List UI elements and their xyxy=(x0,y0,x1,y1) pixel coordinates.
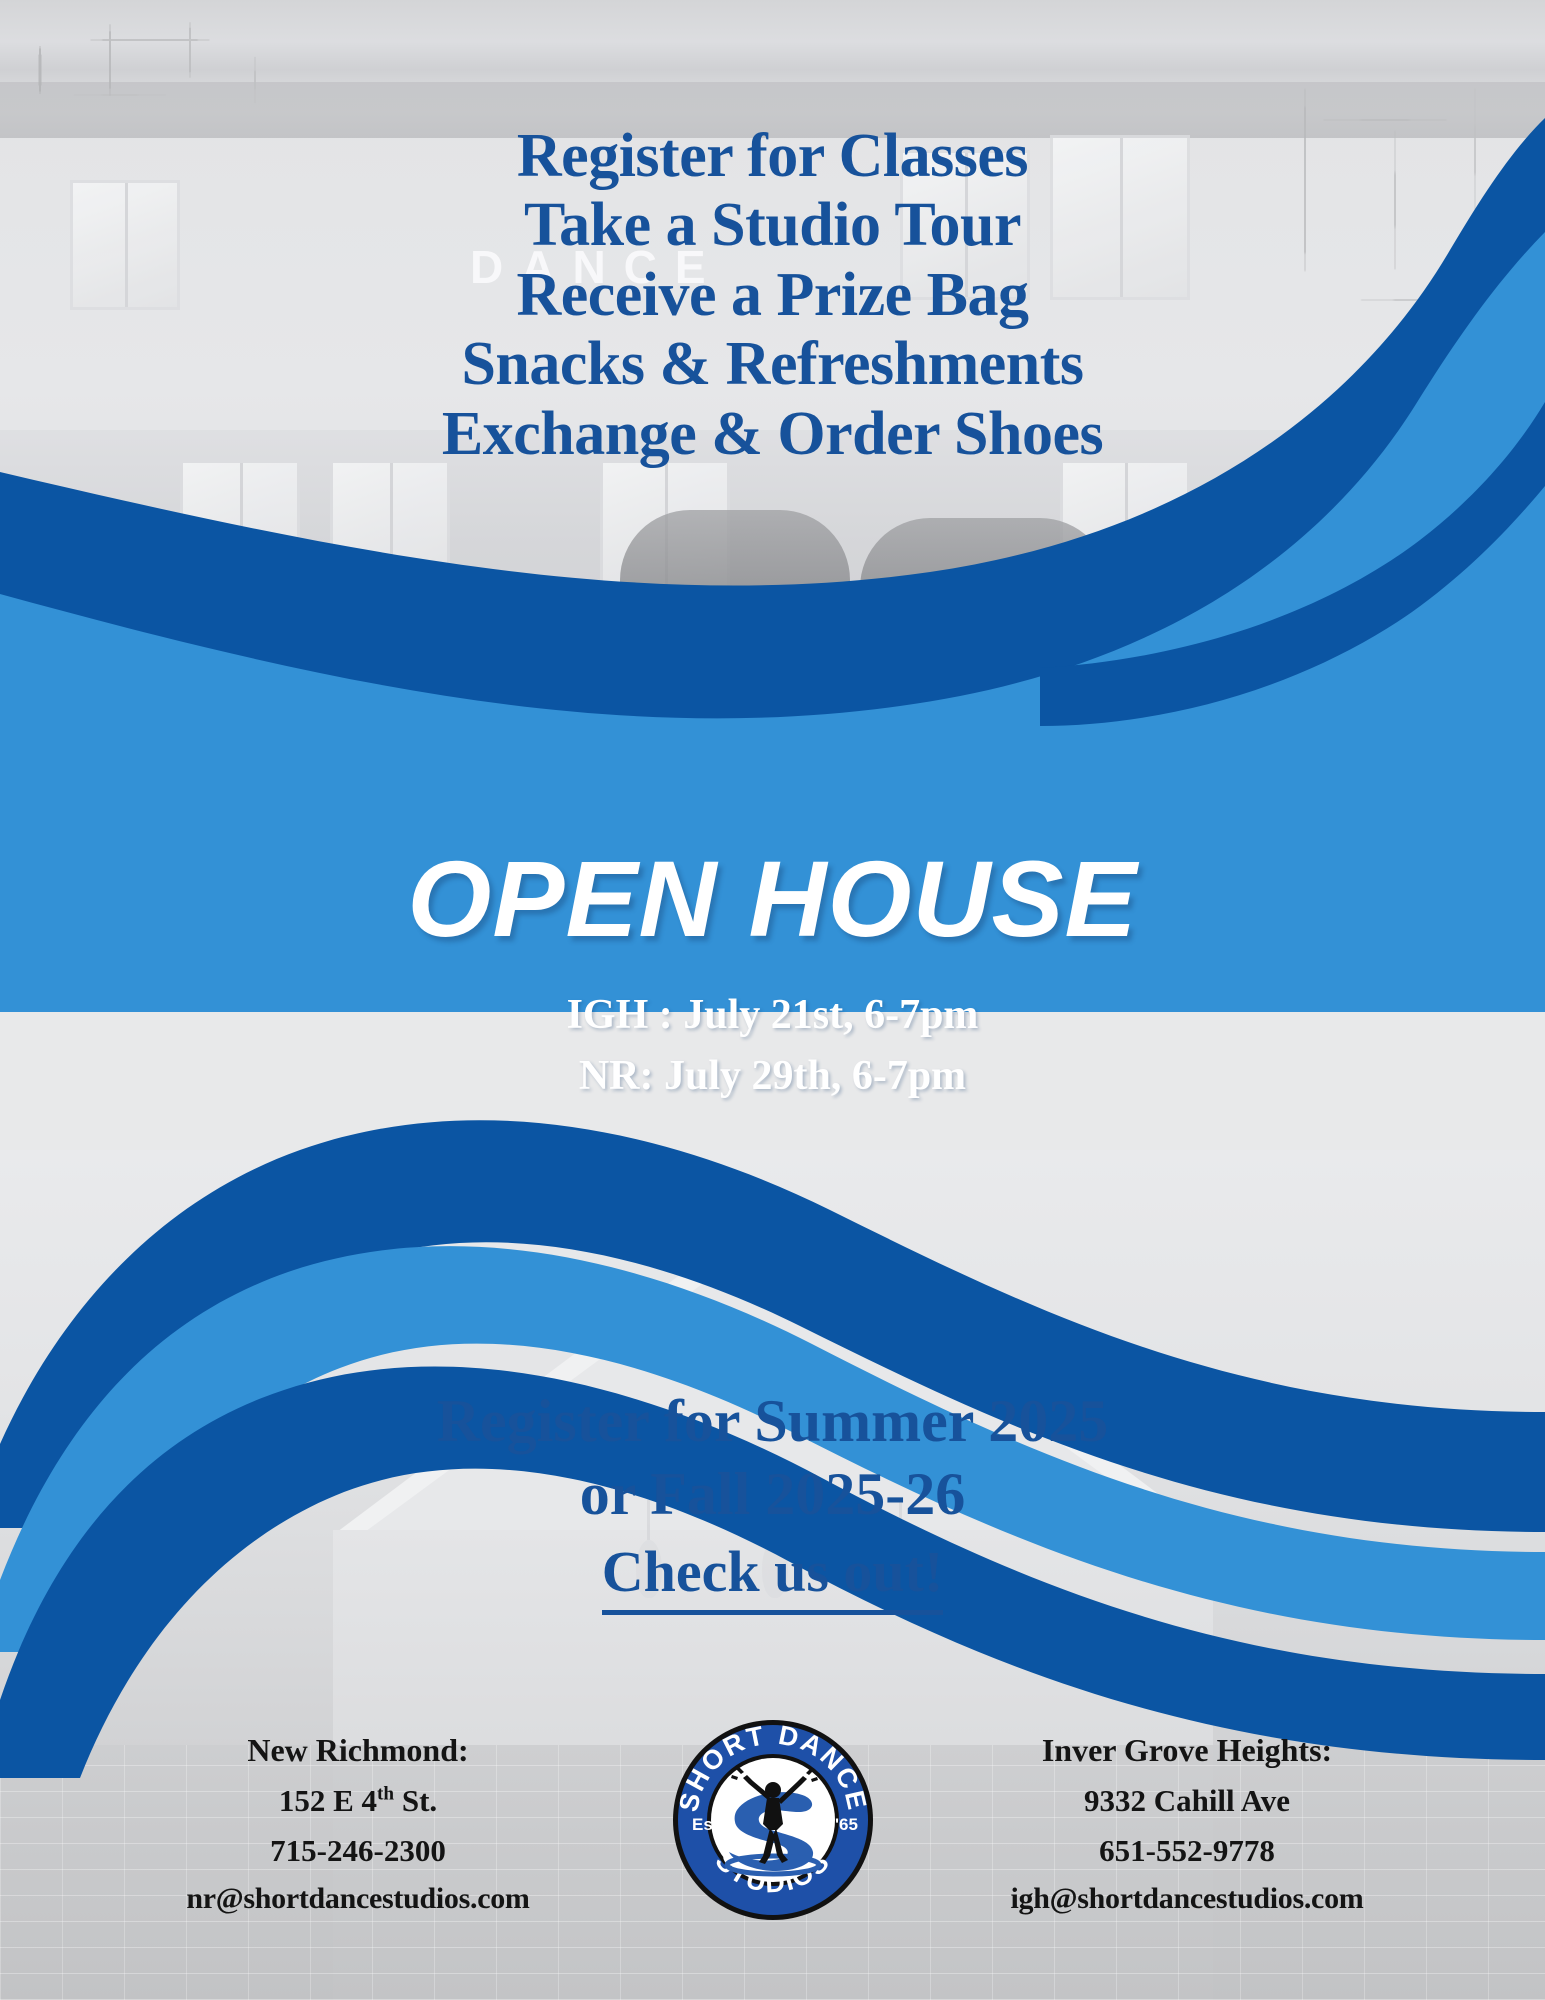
check-us-out-link[interactable]: Check us out! xyxy=(602,1537,944,1615)
contact-inver-grove-heights: Inver Grove Heights: 9332 Cahill Ave 651… xyxy=(937,1725,1437,1923)
register-block: Register for Summer 2025 or Fall 2025-26… xyxy=(0,1385,1545,1615)
open-house-title: OPEN HOUSE xyxy=(0,836,1545,961)
event-date-nr: NR: July 29th, 6-7pm xyxy=(0,1046,1545,1107)
headline-item-2: Take a Studio Tour xyxy=(0,191,1545,260)
contact-title-igh: Inver Grove Heights: xyxy=(937,1725,1437,1776)
contact-email-nr[interactable]: nr@shortdancestudios.com xyxy=(108,1875,608,1923)
contact-section: New Richmond: 152 E 4th St. 715-246-2300… xyxy=(0,1725,1545,2000)
contact-phone-igh[interactable]: 651-552-9778 xyxy=(937,1826,1437,1876)
headline-item-1: Register for Classes xyxy=(0,122,1545,191)
headline-item-4: Snacks & Refreshments xyxy=(0,330,1545,399)
register-line-1: Register for Summer 2025 xyxy=(0,1385,1545,1458)
contact-address-igh: 9332 Cahill Ave xyxy=(937,1776,1437,1826)
contact-email-igh[interactable]: igh@shortdancestudios.com xyxy=(937,1875,1437,1923)
contact-title-nr: New Richmond: xyxy=(108,1725,608,1776)
event-dates: IGH : July 21st, 6-7pm NR: July 29th, 6-… xyxy=(0,985,1545,1107)
headline-item-5: Exchange & Order Shoes xyxy=(0,400,1545,469)
contact-new-richmond: New Richmond: 152 E 4th St. 715-246-2300… xyxy=(108,1725,608,1923)
event-date-igh: IGH : July 21st, 6-7pm xyxy=(0,985,1545,1046)
headline-item-3: Receive a Prize Bag xyxy=(0,261,1545,330)
ordinal-suffix: th xyxy=(377,1784,394,1805)
register-line-2: or Fall 2025-26 xyxy=(0,1458,1545,1531)
contact-phone-nr[interactable]: 715-246-2300 xyxy=(108,1826,608,1876)
contact-address-nr: 152 E 4th St. xyxy=(108,1776,608,1826)
flyer-page: DANCE xyxy=(0,0,1545,2000)
headline-list: Register for Classes Take a Studio Tour … xyxy=(0,122,1545,469)
